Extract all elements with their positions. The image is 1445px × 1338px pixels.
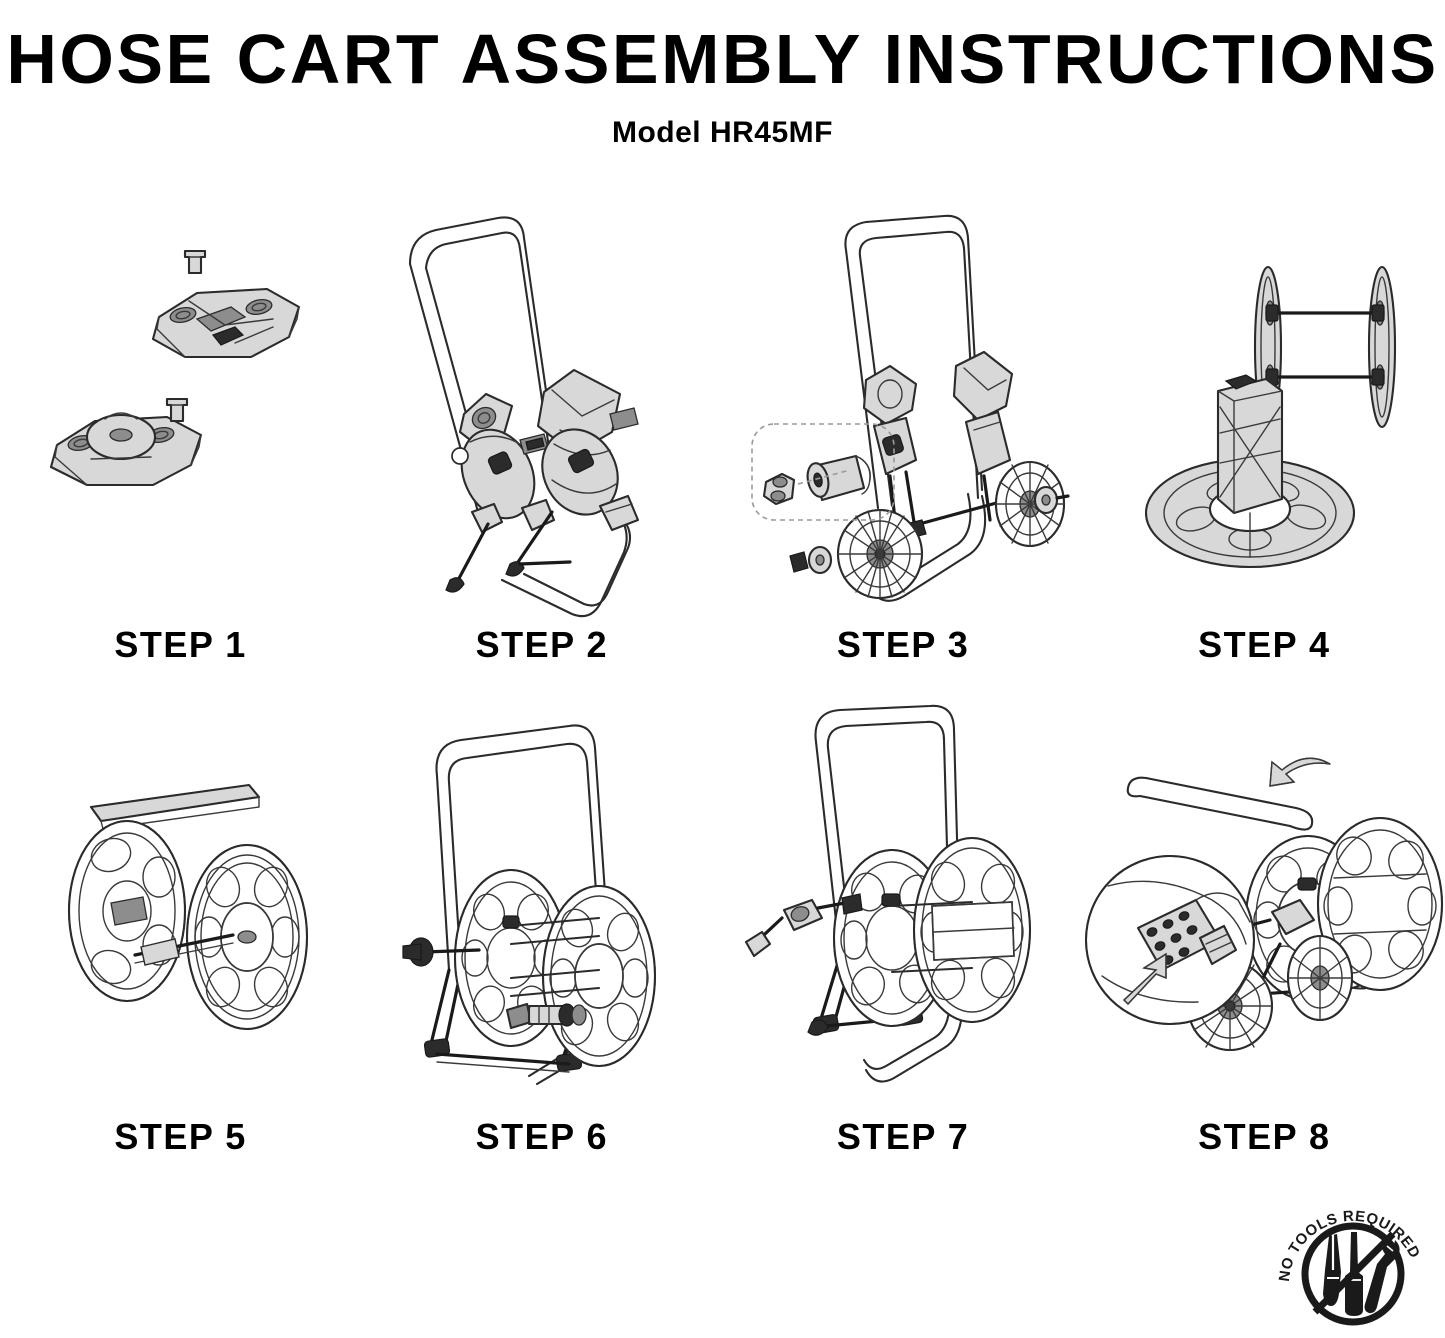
step-6-illustration xyxy=(361,692,722,1116)
handle-release-detail-inset xyxy=(1086,856,1254,1024)
step-cell-4: STEP 4 xyxy=(1084,200,1445,692)
step-1-illustration xyxy=(0,200,361,624)
reel-drum xyxy=(455,870,655,1066)
lower-base-plate xyxy=(51,413,201,485)
steps-grid: STEP 1 xyxy=(0,200,1445,1210)
hub-tower xyxy=(1218,375,1282,513)
tie-rods xyxy=(1266,305,1384,385)
spool-hub xyxy=(1146,375,1354,567)
left-wheel xyxy=(838,510,922,598)
step-cell-5: STEP 5 xyxy=(0,692,361,1184)
far-reel-disc xyxy=(69,821,185,1001)
step-2-illustration xyxy=(361,200,722,624)
step-5-illustration xyxy=(0,692,361,1116)
step-7-illustration xyxy=(723,692,1084,1116)
reel-drum-assembly xyxy=(69,785,307,1029)
page-title: HOSE CART ASSEMBLY INSTRUCTIONS xyxy=(0,24,1445,94)
step-cell-2: STEP 2 xyxy=(361,200,722,692)
step-cell-7: STEP 7 xyxy=(723,692,1084,1184)
step-cell-3: STEP 3 xyxy=(723,200,1084,692)
step-4-illustration xyxy=(1084,200,1445,624)
step-8-illustration xyxy=(1084,692,1445,1116)
step-cell-1: STEP 1 xyxy=(0,200,361,692)
step-label-8: STEP 8 xyxy=(1198,1116,1330,1184)
fold-arrow xyxy=(1270,758,1330,786)
step-3-illustration xyxy=(723,200,1084,624)
badge-circle-group xyxy=(1305,1226,1401,1322)
reel-drum xyxy=(834,838,1030,1026)
support-legs xyxy=(446,512,570,592)
step-label-3: STEP 3 xyxy=(837,624,969,692)
left-bracket xyxy=(448,394,554,532)
step-cell-6: STEP 6 xyxy=(361,692,722,1184)
upper-base-plate xyxy=(153,289,299,357)
step-label-6: STEP 6 xyxy=(476,1116,608,1184)
step-label-5: STEP 5 xyxy=(114,1116,246,1184)
step-label-1: STEP 1 xyxy=(114,624,246,692)
step-label-7: STEP 7 xyxy=(837,1116,969,1184)
near-reel-disc xyxy=(187,845,307,1029)
step-cell-8: STEP 8 xyxy=(1084,692,1445,1184)
upper-push-pin xyxy=(185,251,205,273)
step-label-2: STEP 2 xyxy=(476,624,608,692)
lower-push-pin xyxy=(167,399,187,421)
page-subtitle: Model HR45MF xyxy=(0,116,1445,150)
sheet-header: HOSE CART ASSEMBLY INSTRUCTIONS Model HR… xyxy=(0,24,1445,150)
left-axle-hardware xyxy=(790,547,831,573)
step-label-4: STEP 4 xyxy=(1198,624,1330,692)
